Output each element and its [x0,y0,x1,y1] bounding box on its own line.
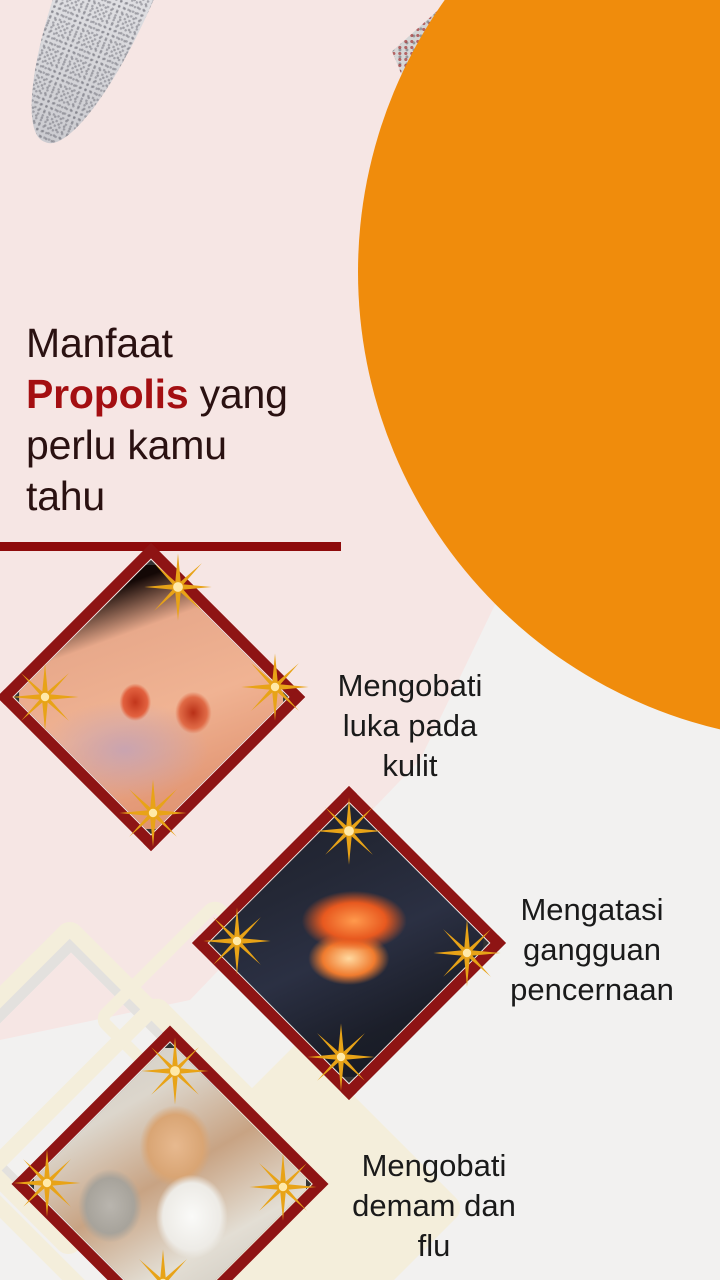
benefit-3-line-2: demam dan [352,1188,516,1223]
benefit-card-3 [58,1072,282,1280]
benefit-1-line-2: luka pada [343,708,477,743]
benefit-card-2 [238,832,460,1054]
benefit-2-line-1: Mengatasi [520,892,663,927]
title-divider [0,542,341,551]
benefit-2-line-3: pencernaan [510,972,674,1007]
benefit-3-line-1: Mengobati [362,1148,507,1183]
title-line-3: perlu kamu [26,422,227,468]
title-line-4: tahu [26,473,105,519]
digestive-pain-photo [209,803,489,1083]
benefit-3-line-3: flu [418,1228,451,1263]
propolis-benefits-infographic: Manfaat Propolis yang perlu kamu tahu M [0,0,720,1280]
skin-wound-photo [14,560,288,834]
page-title: Manfaat Propolis yang perlu kamu tahu [26,318,386,522]
benefit-caption-1: Mengobati luka pada kulit [290,666,530,786]
benefit-caption-3: Mengobati demam dan flu [310,1146,558,1266]
benefit-1-line-1: Mengobati [338,668,483,703]
benefit-caption-2: Mengatasi gangguan pencernaan [470,890,714,1010]
title-line-2-rest: yang [188,371,287,417]
title-highlight-propolis: Propolis [26,371,188,417]
title-line-1: Manfaat [26,320,173,366]
benefit-card-1 [42,588,260,806]
benefit-1-line-3: kulit [382,748,437,783]
benefit-2-line-2: gangguan [523,932,661,967]
